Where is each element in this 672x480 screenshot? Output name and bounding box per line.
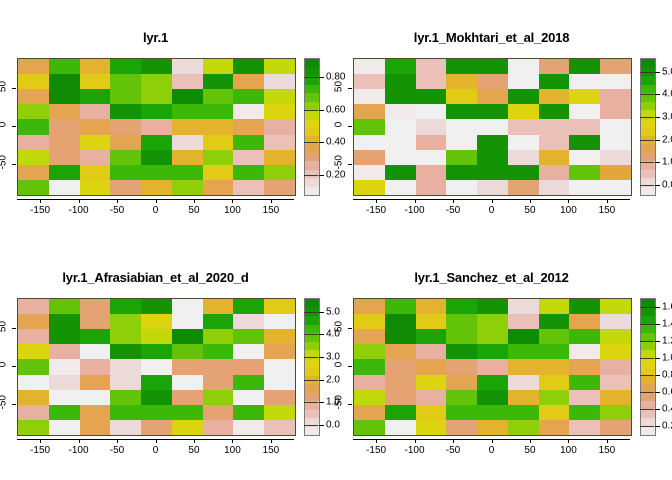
heatmap-plot-area [17,58,296,196]
heatmap-cell [569,329,600,344]
y-tick-label: 50 [0,320,9,334]
colorbar-tick [319,425,324,426]
heatmap-cell [49,314,80,329]
heatmap-cell [416,299,447,314]
y-tick-label: -50 [334,155,345,169]
heatmap-cell [49,390,80,405]
heatmap-cell [477,420,508,435]
heatmap-cell [569,420,600,435]
y-tick-label: 0 [0,118,9,132]
heatmap-cell [233,375,264,390]
heatmap-cell [172,180,203,195]
heatmap-cell [354,420,385,435]
heatmap-cell [539,405,570,420]
colorbar-separator [640,409,654,410]
x-tick-label: 50 [188,445,199,456]
x-tick-label: -50 [446,205,460,216]
heatmap-cell [477,59,508,74]
heatmap-cell [416,119,447,134]
heatmap-cell [477,329,508,344]
heatmap-cell [539,89,570,104]
heatmap-cell [539,375,570,390]
colorbar-separator [640,341,654,342]
heatmap-cell [110,359,141,374]
heatmap-cell [110,405,141,420]
heatmap-cell [539,390,570,405]
colorbar-separator [304,142,318,143]
heatmap-cell [203,119,234,134]
colorbar-tick [319,142,324,143]
heatmap-cell [477,89,508,104]
colorbar [640,58,656,196]
heatmap-cell [477,150,508,165]
colorbar-tick-label: 0.0 [662,179,672,190]
heatmap-cell [600,344,631,359]
heatmap-cell [385,329,416,344]
heatmap-cell [264,165,295,180]
heatmap-cell [172,405,203,420]
heatmap-cell [172,89,203,104]
heatmap-cell [446,375,477,390]
colorbar-segment [305,144,319,153]
heatmap-cell [600,390,631,405]
heatmap-cell [385,135,416,150]
heatmap-cell [416,150,447,165]
panel-2: lyr.1_Mokhtari_et_al_2018-150-100-500501… [336,0,672,240]
heatmap-cell [385,420,416,435]
x-tick-label: -100 [405,445,425,456]
heatmap-cell [600,119,631,134]
heatmap-cell [508,74,539,89]
heatmap-cell [172,165,203,180]
heatmap-cell [354,359,385,374]
heatmap-cell [569,150,600,165]
x-tick-label: 50 [188,205,199,216]
heatmap-cell [141,359,172,374]
heatmap-cell [569,59,600,74]
heatmap-cell [18,299,49,314]
heatmap-cell [18,150,49,165]
heatmap-cell [172,150,203,165]
heatmap-cell [233,359,264,374]
colorbar-separator [304,312,318,313]
heatmap-cell [203,150,234,165]
colorbar-segment [641,144,655,153]
heatmap-cell [80,150,111,165]
heatmap-cell [446,135,477,150]
heatmap-cell [172,329,203,344]
colorbar-tick [655,341,660,342]
heatmap-cell [172,104,203,119]
heatmap-cell [416,104,447,119]
x-tick [376,439,377,443]
heatmap-cell [446,150,477,165]
y-tick-label: 50 [334,320,345,334]
heatmap-cell [49,359,80,374]
heatmap-cell [18,314,49,329]
heatmap-cell [385,344,416,359]
heatmap-cell [569,89,600,104]
heatmap-cell [508,314,539,329]
heatmap-cell [539,104,570,119]
colorbar-separator [304,380,318,381]
heatmap-cell [49,104,80,119]
x-tick-label: 50 [524,445,535,456]
heatmap-cell [446,119,477,134]
heatmap-cell [600,89,631,104]
heatmap-cell [264,74,295,89]
heatmap-cell [233,180,264,195]
x-tick [415,439,416,443]
colorbar-tick [655,140,660,141]
x-tick-label: 150 [263,205,280,216]
heatmap-cell [233,135,264,150]
colorbar-separator [640,426,654,427]
colorbar-segment [641,376,655,385]
heatmap-cell [354,74,385,89]
heatmap-cell [600,150,631,165]
y-tick [348,404,352,405]
colorbar-separator [640,324,654,325]
heatmap-cell [569,299,600,314]
heatmap-cell [141,74,172,89]
heatmap-cell [446,329,477,344]
colorbar-tick-label: 4.0 [662,89,672,100]
heatmap-cell [141,135,172,150]
figure-canvas: lyr.1-150-100-50050100150500-500.200.400… [0,0,672,480]
heatmap-cell [18,375,49,390]
heatmap-cell [264,135,295,150]
panel-4: lyr.1_Sanchez_et_al_2012-150-100-5005010… [336,240,672,480]
colorbar-segment [305,393,319,402]
heatmap-cell [233,420,264,435]
heatmap-cell [80,299,111,314]
x-tick-label: 100 [560,445,577,456]
heatmap-cell [477,135,508,150]
heatmap-cell [80,405,111,420]
heatmap-cell [385,314,416,329]
x-tick [156,439,157,443]
heatmap-cell [539,420,570,435]
colorbar-segment [641,59,655,68]
colorbar-segment [641,410,655,419]
heatmap-cell [49,420,80,435]
colorbar-tick [655,185,660,186]
x-tick-label: -150 [30,205,50,216]
heatmap-cell [385,390,416,405]
heatmap-cell [172,314,203,329]
heatmap-cell [203,405,234,420]
heatmap-cell [385,165,416,180]
heatmap-cell [600,74,631,89]
heatmap-plot-area [17,298,296,436]
heatmap-cell [600,59,631,74]
heatmap-cell [233,405,264,420]
heatmap-cell [80,359,111,374]
heatmap-cell [49,299,80,314]
colorbar-segment [305,316,319,325]
heatmap-cell [80,420,111,435]
y-tick [348,366,352,367]
heatmap-cell [110,150,141,165]
x-tick-label: -150 [30,445,50,456]
heatmap-cell [203,74,234,89]
heatmap-cell [385,104,416,119]
heatmap-cell [110,420,141,435]
colorbar-segment [305,325,319,334]
x-tick [453,199,454,203]
colorbar-segment [641,170,655,179]
heatmap-cell [80,59,111,74]
x-tick-label: 100 [560,205,577,216]
heatmap-cell [354,390,385,405]
heatmap-cell [80,89,111,104]
heatmap-cell [354,375,385,390]
x-tick [156,199,157,203]
heatmap-cell [80,135,111,150]
heatmap-cell [80,180,111,195]
colorbar-segment [305,342,319,351]
colorbar-separator [304,110,318,111]
y-tick-label: 0 [334,358,345,372]
y-tick [12,88,16,89]
heatmap-cell [508,390,539,405]
colorbar-tick-label: 1.0 [662,352,672,363]
heatmap-cell [354,329,385,344]
heatmap-cell [110,329,141,344]
panel-3: lyr.1_Afrasiabian_et_al_2020_d-150-100-5… [0,240,336,480]
heatmap-cell [233,119,264,134]
heatmap-cell [600,375,631,390]
colorbar-separator [640,94,654,95]
heatmap-cell [508,344,539,359]
heatmap-cell [18,390,49,405]
heatmap-cell [49,344,80,359]
heatmap-cell [600,180,631,195]
colorbar-segment [641,76,655,85]
heatmap-cell [539,135,570,150]
colorbar-tick-label: 0.4 [662,403,672,414]
heatmap-cell [477,104,508,119]
heatmap-cell [49,119,80,134]
heatmap-cell [49,375,80,390]
heatmap-cell [203,104,234,119]
heatmap-cell [264,405,295,420]
colorbar-segment [305,410,319,419]
colorbar-separator [640,162,654,163]
heatmap-cell [141,299,172,314]
x-tick [40,439,41,443]
heatmap-cell [203,375,234,390]
heatmap-cell [172,390,203,405]
panel-title: lyr.1_Afrasiabian_et_al_2020_d [17,270,294,285]
colorbar-separator [304,425,318,426]
colorbar-segment [305,427,319,436]
colorbar-tick [655,375,660,376]
heatmap-cell [446,180,477,195]
colorbar-segment [305,384,319,393]
y-tick-label: 50 [0,80,9,94]
colorbar-separator [640,358,654,359]
y-tick [12,366,16,367]
heatmap-cell [446,89,477,104]
colorbar-separator [640,307,654,308]
heatmap-cell [110,314,141,329]
x-tick [415,199,416,203]
heatmap-cell [354,180,385,195]
heatmap-cell [539,165,570,180]
colorbar-segment [305,359,319,368]
heatmap-cell [354,344,385,359]
heatmap-cell [141,89,172,104]
heatmap-cell [233,329,264,344]
heatmap-cell [264,359,295,374]
heatmap-cell [264,375,295,390]
heatmap-cell [569,314,600,329]
heatmap-cell [600,359,631,374]
heatmap-cell [141,165,172,180]
heatmap-cell [18,329,49,344]
heatmap-cell [203,359,234,374]
colorbar-separator [304,77,318,78]
colorbar-segment [305,93,319,102]
heatmap-cell [539,329,570,344]
heatmap-cell [49,59,80,74]
x-tick-label: -150 [366,445,386,456]
colorbar-tick [655,307,660,308]
panel-title: lyr.1_Sanchez_et_al_2012 [353,270,630,285]
x-tick [194,199,195,203]
heatmap-cell [203,180,234,195]
heatmap-cell [539,119,570,134]
colorbar-separator [640,140,654,141]
x-tick-label: 100 [224,445,241,456]
heatmap-cell [477,375,508,390]
heatmap-cell [49,165,80,180]
heatmap-cell [233,89,264,104]
colorbar-tick [319,402,324,403]
heatmap-cell [416,375,447,390]
heatmap-grid [354,299,631,435]
heatmap-cell [539,359,570,374]
heatmap-cell [600,314,631,329]
x-tick [79,439,80,443]
colorbar-segment [305,127,319,136]
heatmap-cell [477,299,508,314]
heatmap-cell [49,135,80,150]
heatmap-cell [172,135,203,150]
x-tick [271,199,272,203]
y-tick [12,328,16,329]
colorbar-tick [319,334,324,335]
heatmap-plot-area [353,298,632,436]
heatmap-cell [49,89,80,104]
colorbar-tick [319,175,324,176]
heatmap-cell [477,119,508,134]
heatmap-cell [18,59,49,74]
colorbar-gradient [305,299,319,435]
heatmap-cell [385,375,416,390]
heatmap-cell [264,344,295,359]
heatmap-cell [80,119,111,134]
heatmap-plot-area [353,58,632,196]
colorbar-tick-label: 1.6 [662,301,672,312]
heatmap-cell [264,299,295,314]
heatmap-cell [141,344,172,359]
heatmap-cell [354,165,385,180]
x-tick [607,199,608,203]
heatmap-cell [80,344,111,359]
heatmap-cell [141,329,172,344]
colorbar-segment [641,342,655,351]
heatmap-cell [569,119,600,134]
heatmap-cell [141,104,172,119]
panel-1: lyr.1-150-100-50050100150500-500.200.400… [0,0,336,240]
heatmap-cell [233,344,264,359]
heatmap-cell [18,344,49,359]
heatmap-cell [416,59,447,74]
heatmap-cell [172,420,203,435]
heatmap-cell [354,104,385,119]
x-tick-label: 0 [153,205,159,216]
colorbar-segment [305,59,319,68]
colorbar-tick [319,77,324,78]
colorbar-segment [305,187,319,196]
heatmap-cell [508,135,539,150]
heatmap-cell [110,119,141,134]
colorbar-separator [304,357,318,358]
x-tick-label: 50 [524,205,535,216]
heatmap-cell [203,329,234,344]
heatmap-cell [385,180,416,195]
heatmap-cell [416,180,447,195]
heatmap-cell [49,405,80,420]
heatmap-cell [446,344,477,359]
colorbar-segment [641,102,655,111]
colorbar-gradient [641,59,655,195]
heatmap-cell [569,375,600,390]
colorbar-segment [305,299,319,308]
colorbar-tick-label: 1.4 [662,318,672,329]
heatmap-cell [508,89,539,104]
heatmap-cell [446,165,477,180]
heatmap-cell [264,420,295,435]
heatmap-cell [80,314,111,329]
heatmap-cell [80,329,111,344]
colorbar-segment [641,393,655,402]
heatmap-cell [416,420,447,435]
x-tick [568,439,569,443]
heatmap-cell [264,59,295,74]
colorbar-tick-label: 1.0 [662,157,672,168]
heatmap-cell [416,135,447,150]
colorbar-tick-label: 2.0 [662,134,672,145]
y-tick [348,126,352,127]
y-tick-label: -50 [0,155,9,169]
colorbar-separator [640,185,654,186]
x-tick-label: -50 [110,445,124,456]
heatmap-cell [110,74,141,89]
heatmap-cell [354,314,385,329]
heatmap-cell [264,89,295,104]
heatmap-cell [569,74,600,89]
colorbar-segment [305,68,319,77]
heatmap-cell [172,344,203,359]
heatmap-cell [600,329,631,344]
heatmap-cell [141,150,172,165]
heatmap-cell [539,344,570,359]
heatmap-cell [446,420,477,435]
